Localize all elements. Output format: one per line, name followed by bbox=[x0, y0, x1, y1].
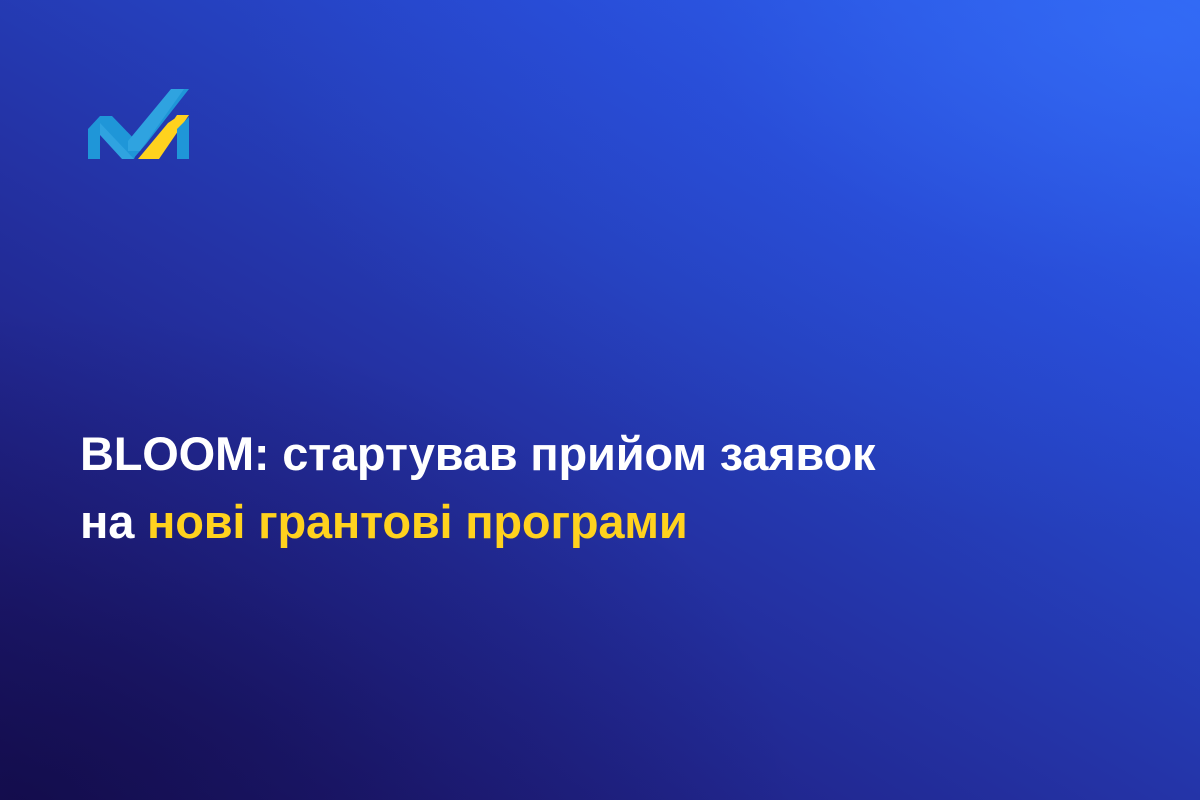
promo-banner: BLOOM: стартував прийом заявок на нові г… bbox=[0, 0, 1200, 800]
headline-line-2-prefix: на bbox=[80, 495, 147, 548]
brand-m-logo-icon bbox=[88, 89, 189, 159]
headline-line-2: на нові грантові програми bbox=[80, 488, 1040, 556]
headline-line-2-accent: нові грантові програми bbox=[147, 495, 688, 548]
headline: BLOOM: стартував прийом заявок на нові г… bbox=[80, 420, 1040, 555]
headline-line-1: BLOOM: стартував прийом заявок bbox=[80, 420, 1040, 488]
brand-logo[interactable] bbox=[88, 89, 189, 159]
